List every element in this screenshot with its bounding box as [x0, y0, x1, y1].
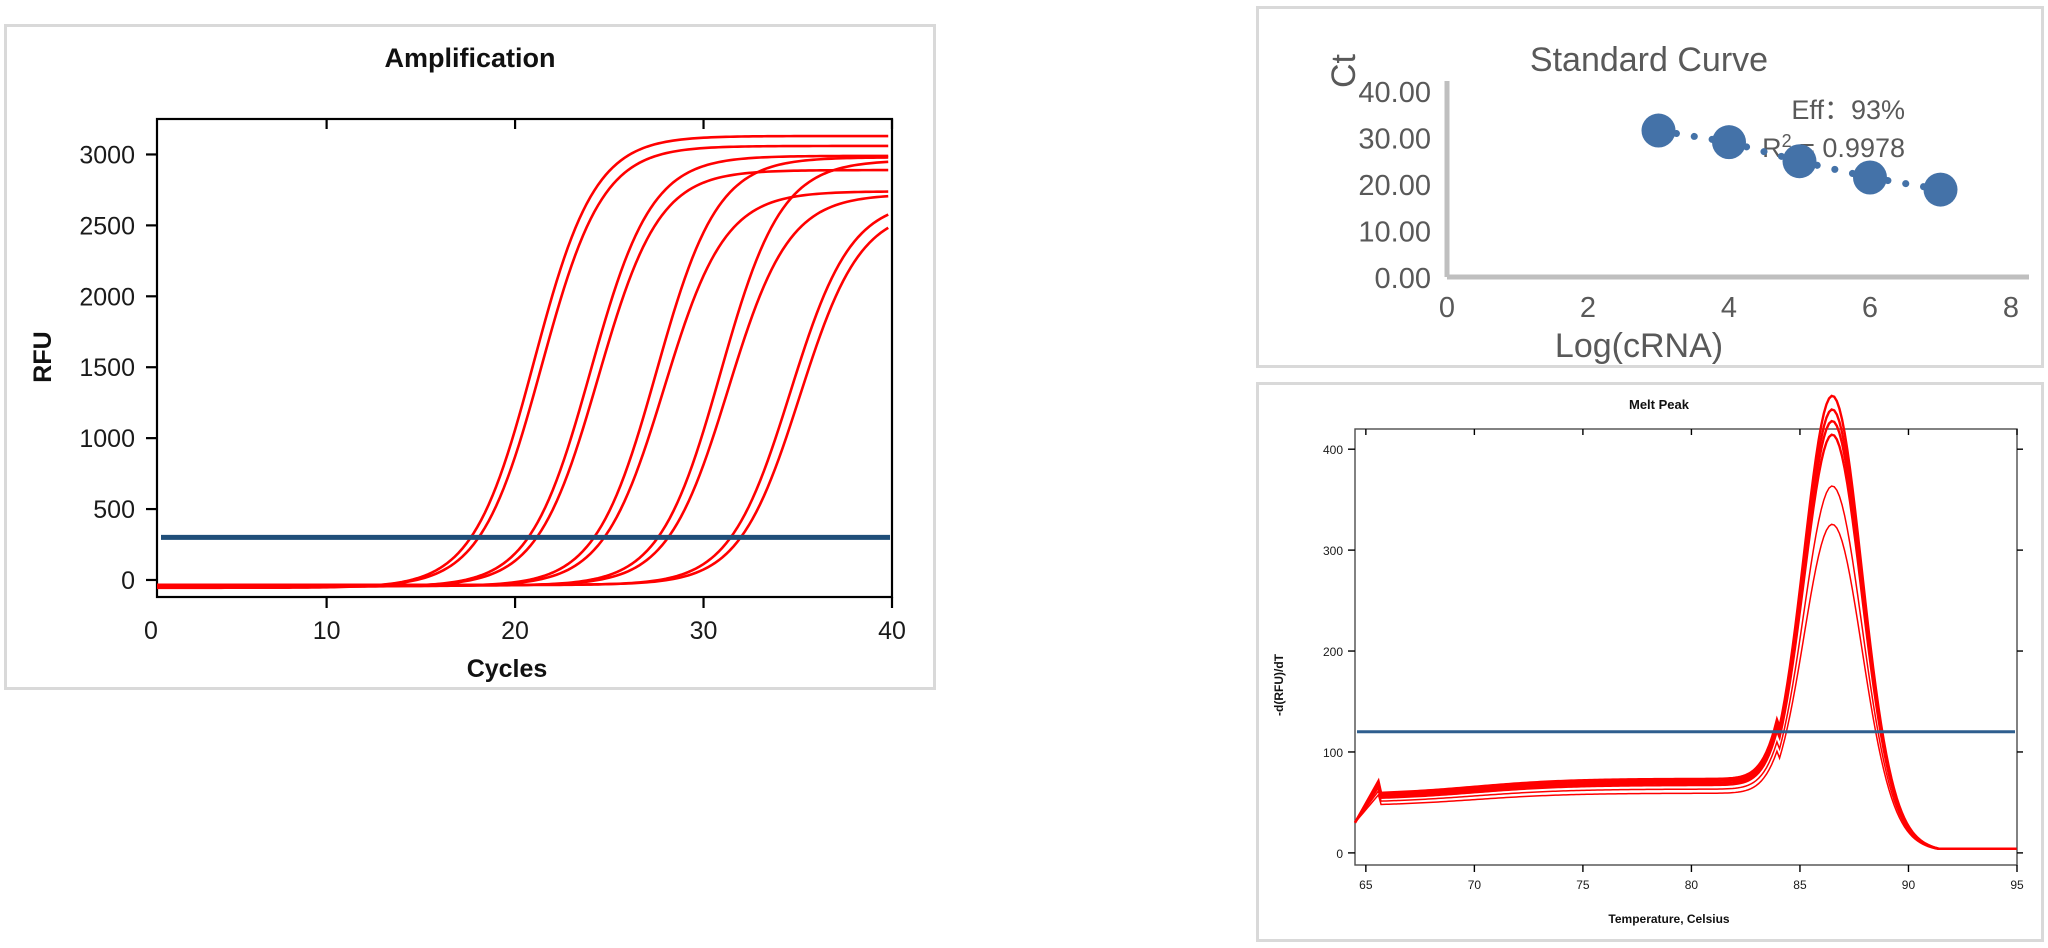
amplification-curve: [157, 146, 888, 587]
standard-curve-point[interactable]: [1783, 144, 1817, 178]
melt-peak-y-tick: 100: [1323, 746, 1343, 760]
standard-curve-title: Standard Curve: [1530, 41, 1768, 79]
standard-curve-chart: Standard Curve Ct Log(cRNA) Eff：93% R2 =…: [1259, 9, 2041, 365]
melt-peak-x-tick: 65: [1359, 878, 1373, 892]
amplification-curves: [157, 136, 888, 588]
melt-peak-axes: 010020030040065707580859095: [1323, 429, 2024, 892]
melt-peak-x-tick: 85: [1793, 878, 1807, 892]
standard-curve-x-axis-label: Log(cRNA): [1555, 327, 1723, 365]
standard-curve-y-tick: 40.00: [1358, 77, 1431, 109]
standard-curve-x-tick: 6: [1862, 292, 1878, 324]
amplification-y-tick: 1500: [79, 354, 135, 382]
standard-curve-point[interactable]: [1712, 125, 1746, 159]
amplification-curve: [157, 136, 888, 588]
efficiency-annotation: Eff：93%: [1791, 95, 1905, 125]
melt-peak-x-tick: 80: [1685, 878, 1699, 892]
standard-curve-y-tick: 20.00: [1358, 170, 1431, 202]
standard-curve-x-tick: 8: [2003, 292, 2019, 324]
amplification-curve: [157, 162, 888, 586]
melt-peak-panel: Melt Peak -d(RFU)/dT Temperature, Celsiu…: [1256, 382, 2044, 942]
amplification-y-tick: 2500: [79, 212, 135, 240]
amplification-curve: [157, 196, 888, 585]
melt-peak-x-tick: 70: [1468, 878, 1482, 892]
standard-curve-x-tick: 4: [1721, 292, 1737, 324]
standard-curve-y-axis-label: Ct: [1325, 53, 1363, 88]
amplification-x-tick: 20: [501, 617, 529, 645]
melt-peak-curve: [1355, 435, 2017, 849]
melt-peak-y-axis-label: -d(RFU)/dT: [1272, 653, 1286, 716]
standard-curve-x-tick: 0: [1439, 292, 1455, 324]
melt-peak-x-tick: 75: [1576, 878, 1590, 892]
melt-peak-x-axis-label: Temperature, Celsius: [1608, 912, 1729, 926]
melt-peak-x-tick: 90: [1902, 878, 1916, 892]
melt-peak-curves: [1355, 396, 2017, 849]
standard-curve-point[interactable]: [1853, 160, 1887, 194]
amplification-x-tick: 0: [144, 617, 158, 645]
melt-peak-y-tick: 200: [1323, 645, 1343, 659]
amplification-x-tick: 10: [313, 617, 341, 645]
amplification-axes: 050010001500200025003000010203040: [79, 119, 906, 645]
standard-curve-panel: Standard Curve Ct Log(cRNA) Eff：93% R2 =…: [1256, 6, 2044, 368]
amplification-y-tick: 3000: [79, 141, 135, 169]
amplification-curve: [157, 192, 888, 586]
amplification-curve: [157, 170, 888, 586]
amplification-chart: Amplification RFU Cycles 050010001500200…: [7, 27, 933, 687]
standard-curve-y-tick: 10.00: [1358, 217, 1431, 249]
amplification-x-tick: 30: [690, 617, 718, 645]
standard-curve-point[interactable]: [1642, 114, 1676, 148]
melt-peak-y-tick: 0: [1336, 847, 1343, 861]
standard-curve-point[interactable]: [1924, 173, 1958, 207]
standard-curve-points[interactable]: [1642, 114, 1958, 207]
amplification-y-tick: 0: [121, 567, 135, 595]
amplification-panel: Amplification RFU Cycles 050010001500200…: [4, 24, 936, 690]
standard-curve-y-tick: 30.00: [1358, 124, 1431, 156]
amplification-y-axis-label: RFU: [29, 331, 57, 382]
amplification-x-axis-label: Cycles: [467, 655, 548, 683]
amplification-curve: [157, 156, 888, 587]
standard-curve-x-tick: 2: [1580, 292, 1596, 324]
melt-peak-chart: Melt Peak -d(RFU)/dT Temperature, Celsiu…: [1259, 385, 2041, 939]
melt-peak-x-tick: 95: [2010, 878, 2024, 892]
amplification-y-tick: 500: [93, 496, 135, 524]
amplification-y-tick: 1000: [79, 425, 135, 453]
amplification-y-tick: 2000: [79, 283, 135, 311]
melt-peak-y-tick: 300: [1323, 544, 1343, 558]
melt-peak-y-tick: 400: [1323, 443, 1343, 457]
amplification-curve: [157, 158, 888, 587]
amplification-title: Amplification: [384, 43, 555, 73]
standard-curve-y-tick: 0.00: [1375, 263, 1431, 295]
melt-peak-curve: [1355, 524, 2017, 849]
melt-peak-title: Melt Peak: [1629, 397, 1690, 412]
amplification-x-tick: 40: [878, 617, 906, 645]
